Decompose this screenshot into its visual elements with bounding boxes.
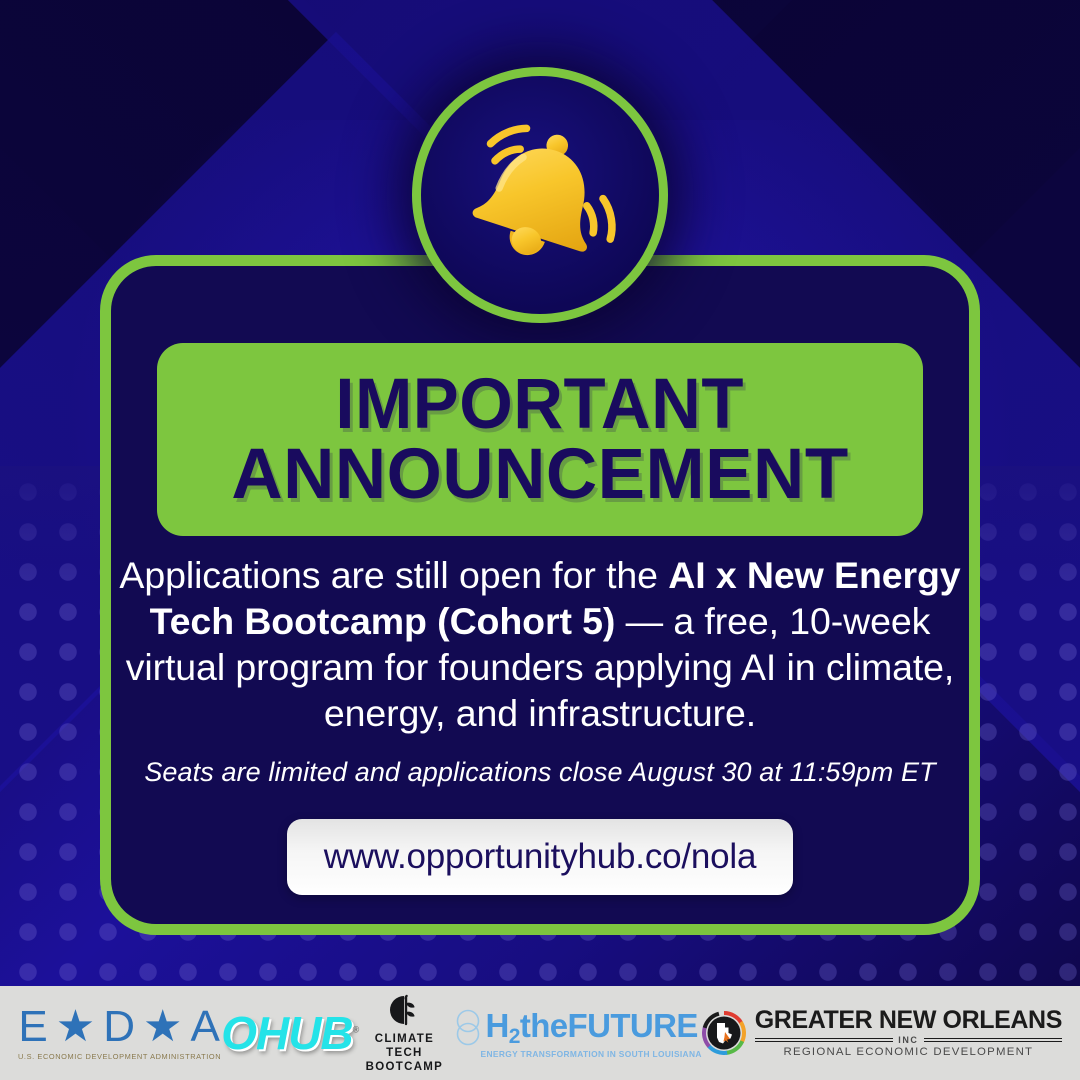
logo-greater-new-orleans: GREATER NEW ORLEANS INC REGIONAL ECONOMI… [702, 1008, 1062, 1058]
double-circle-icon [455, 1008, 481, 1048]
logo-eda: E ★ D ★ A U.S. ECONOMIC DEVELOPMENT ADMI… [18, 1005, 221, 1061]
logo-h2thefuture: H2theFUTURE ENERGY TRANSFORMATION IN SOU… [451, 1008, 702, 1059]
sprout-leaf-icon [382, 993, 426, 1029]
eda-subtitle: U.S. ECONOMIC DEVELOPMENT ADMINISTRATION [18, 1052, 221, 1061]
bell-medallion [412, 67, 668, 323]
climate-tech-bootcamp-text: CLIMATE TECH BOOTCAMP [358, 1032, 450, 1074]
eda-letter-e: E [18, 1005, 48, 1049]
h2-letter-h: H [486, 1007, 509, 1044]
eda-star-icon: ★ [143, 1005, 183, 1049]
gno-rule-left [755, 1038, 893, 1042]
gno-title: GREATER NEW ORLEANS [755, 1008, 1062, 1033]
headline-line-1: IMPORTANT [336, 372, 745, 437]
url-button-label: www.opportunityhub.co/nola [324, 837, 757, 877]
body-copy: Applications are still open for the AI x… [110, 552, 970, 736]
h2-text: H2theFUTURE [486, 1009, 698, 1047]
gno-subtitle: REGIONAL ECONOMIC DEVELOPMENT [784, 1046, 1034, 1058]
eda-star-icon: ★ [56, 1005, 96, 1049]
partner-logo-bar: E ★ D ★ A U.S. ECONOMIC DEVELOPMENT ADMI… [0, 986, 1080, 1080]
body-segment-1: Applications are still open for the [119, 554, 668, 596]
eda-letter-a: A [190, 1005, 220, 1049]
gno-rule-right [924, 1038, 1062, 1042]
ohub-wordmark: OHUB® [221, 1010, 358, 1056]
h2-tagline: ENERGY TRANSFORMATION IN SOUTH LOUISIANA [481, 1049, 702, 1059]
ohub-trademark: ® [353, 1025, 359, 1035]
headline-panel: IMPORTANT ANNOUNCEMENT [157, 343, 923, 536]
headline-line-2: ANNOUNCEMENT [231, 442, 848, 507]
deadline-text: Seats are limited and applications close… [90, 757, 990, 788]
ctb-line-1: CLIMATE TECH [358, 1032, 450, 1060]
ohub-text: OHUB [221, 1007, 352, 1059]
ctb-line-2: BOOTCAMP [358, 1060, 450, 1074]
logo-ohub: OHUB® [221, 1010, 358, 1056]
url-button[interactable]: www.opportunityhub.co/nola [287, 819, 793, 895]
eda-letter-d: D [103, 1005, 136, 1049]
h2-wordmark: H2theFUTURE [455, 1008, 698, 1048]
logo-climate-tech-bootcamp: CLIMATE TECH BOOTCAMP [358, 993, 450, 1074]
announcement-graphic: IMPORTANT ANNOUNCEMENT Applications are … [0, 0, 1080, 1080]
eda-wordmark: E ★ D ★ A [18, 1005, 220, 1049]
h2-rest: theFUTURE [520, 1007, 698, 1044]
gno-inc-label: INC [898, 1035, 918, 1045]
bell-ringing-icon [450, 105, 630, 285]
louisiana-ring-icon [702, 1011, 746, 1055]
h2-subscript-2: 2 [509, 1025, 520, 1048]
